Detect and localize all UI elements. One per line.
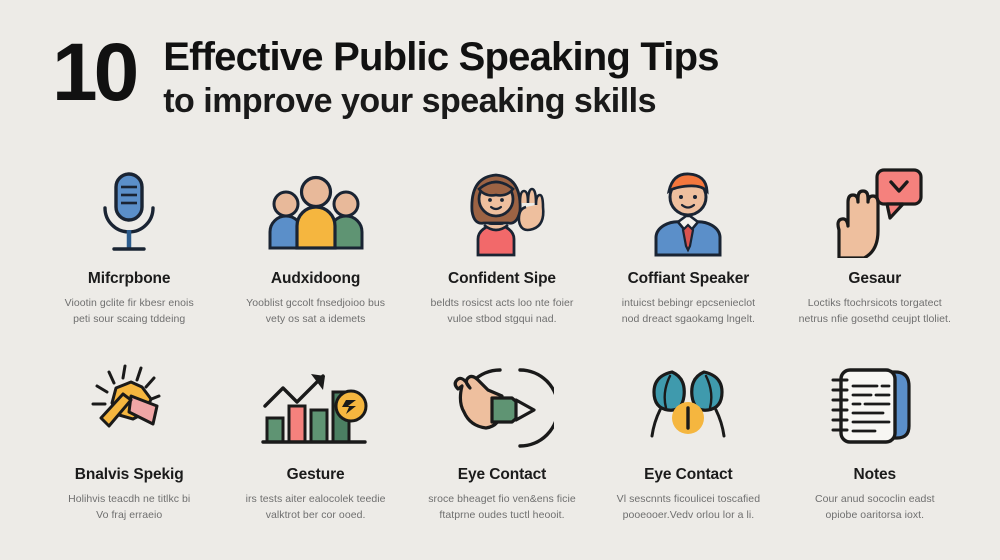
tip-card[interactable]: Notes Cour anud sococlin eadst opiobe oa… [782,362,968,558]
tip-description: Yooblist gccolt fnsedjoioo bus vety os s… [246,295,385,328]
tip-card[interactable]: Audxidoong Yooblist gccolt fnsedjoioo bu… [222,166,408,362]
tip-description: Loctiks ftochrsicots torgatect netrus nf… [799,295,951,328]
audience-group-icon [230,166,400,258]
tip-desc-line1: Viootin gclite fir kbesr enois [65,297,194,309]
tip-title: Audxidoong [271,270,360,288]
tip-card[interactable]: Bnalvis Spekig Holihvis teacdh ne titlkc… [36,362,222,558]
notebook-icon [790,362,960,454]
tip-desc-line2: pooeooer.Vedv orlou lor a li. [623,509,755,521]
tip-desc-line2: vuloe stbod stgqui nad. [447,313,556,325]
eyes-icon [603,362,773,454]
tip-card[interactable]: Gesture irs tests aiter ealocolek teedie… [222,362,408,558]
header: 10 Effective Public Speaking Tips to imp… [0,0,1000,123]
tip-card[interactable]: Confident Sipe beldts rosicst acts loo n… [409,166,595,362]
confident-woman-icon [417,166,587,258]
hand-gesture-icon [790,166,960,258]
tip-title: Confident Sipe [448,270,556,288]
tip-title: Coffiant Speaker [628,270,750,288]
tip-description: sroce bheaget fio ven&ens ficie ftatprne… [428,491,575,524]
tip-desc-line1: Loctiks ftochrsicots torgatect [808,297,942,309]
tip-description: intuicst bebingr epcsenieclot nod dreact… [622,295,755,328]
tip-desc-line2: nod dreact sgaokamg lngelt. [622,313,755,325]
hand-holding-icon [417,362,587,454]
tip-desc-line2: Vo fraj erraeio [96,509,162,521]
tip-desc-line1: Cour anud sococlin eadst [815,493,935,505]
tip-desc-line1: Yooblist gccolt fnsedjoioo bus [246,297,385,309]
tip-desc-line2: netrus nfie gosethd ceujpt tloliet. [799,313,951,325]
tip-description: Vl sescnnts ficoulicei toscafied pooeooe… [617,491,760,524]
tip-description: irs tests aiter ealocolek teedie valktro… [246,491,386,524]
tip-desc-line1: Vl sescnnts ficoulicei toscafied [617,493,760,505]
tip-desc-line2: peti sour scaing tddeing [73,313,185,325]
tip-description: Viootin gclite fir kbesr enois peti sour… [65,295,194,328]
tip-desc-line1: irs tests aiter ealocolek teedie [246,493,386,505]
tip-title: Eye Contact [458,466,546,484]
tip-card[interactable]: Gesaur Loctiks ftochrsicots torgatect ne… [782,166,968,362]
big-number: 10 [52,34,135,113]
growth-chart-icon [230,362,400,454]
tip-description: beldts rosicst acts loo nte foier vuloe … [431,295,574,328]
tip-desc-line2: vety os sat a idemets [266,313,366,325]
tip-title: Eye Contact [644,466,732,484]
tip-desc-line1: beldts rosicst acts loo nte foier [431,297,574,309]
microphone-icon [44,166,214,258]
tip-desc-line1: sroce bheaget fio ven&ens ficie [428,493,575,505]
tip-desc-line2: opiobe oaritorsa ioxt. [826,509,925,521]
tip-desc-line2: valktrot ber cor ooed. [266,509,366,521]
suited-speaker-icon [603,166,773,258]
tip-card[interactable]: Mifcrpbone Viootin gclite fir kbesr enoi… [36,166,222,362]
title-block: Effective Public Speaking Tips to improv… [163,28,718,123]
tip-title: Bnalvis Spekig [75,466,184,484]
tip-desc-line2: ftatprne oudes tuctl heooit. [439,509,564,521]
tip-title: Mifcrpbone [88,270,171,288]
tip-card[interactable]: Coffiant Speaker intuicst bebingr epcsen… [595,166,781,362]
infographic-page: 10 Effective Public Speaking Tips to imp… [0,0,1000,560]
tip-description: Cour anud sococlin eadst opiobe oaritors… [815,491,935,524]
tip-title: Gesture [287,466,345,484]
megaphone-burst-icon [44,362,214,454]
tip-desc-line1: Holihvis teacdh ne titlkc bi [68,493,190,505]
page-title: Effective Public Speaking Tips [163,34,718,81]
tip-title: Notes [854,466,897,484]
tips-grid: Mifcrpbone Viootin gclite fir kbesr enoi… [36,166,968,558]
tip-desc-line1: intuicst bebingr epcsenieclot [622,297,755,309]
tip-card[interactable]: Eye Contact Vl sescnnts ficoulicei tosca… [595,362,781,558]
tip-card[interactable]: Eye Contact sroce bheaget fio ven&ens fi… [409,362,595,558]
tip-description: Holihvis teacdh ne titlkc bi Vo fraj err… [68,491,190,524]
page-subtitle: to improve your speaking skills [163,81,718,122]
tip-title: Gesaur [848,270,901,288]
